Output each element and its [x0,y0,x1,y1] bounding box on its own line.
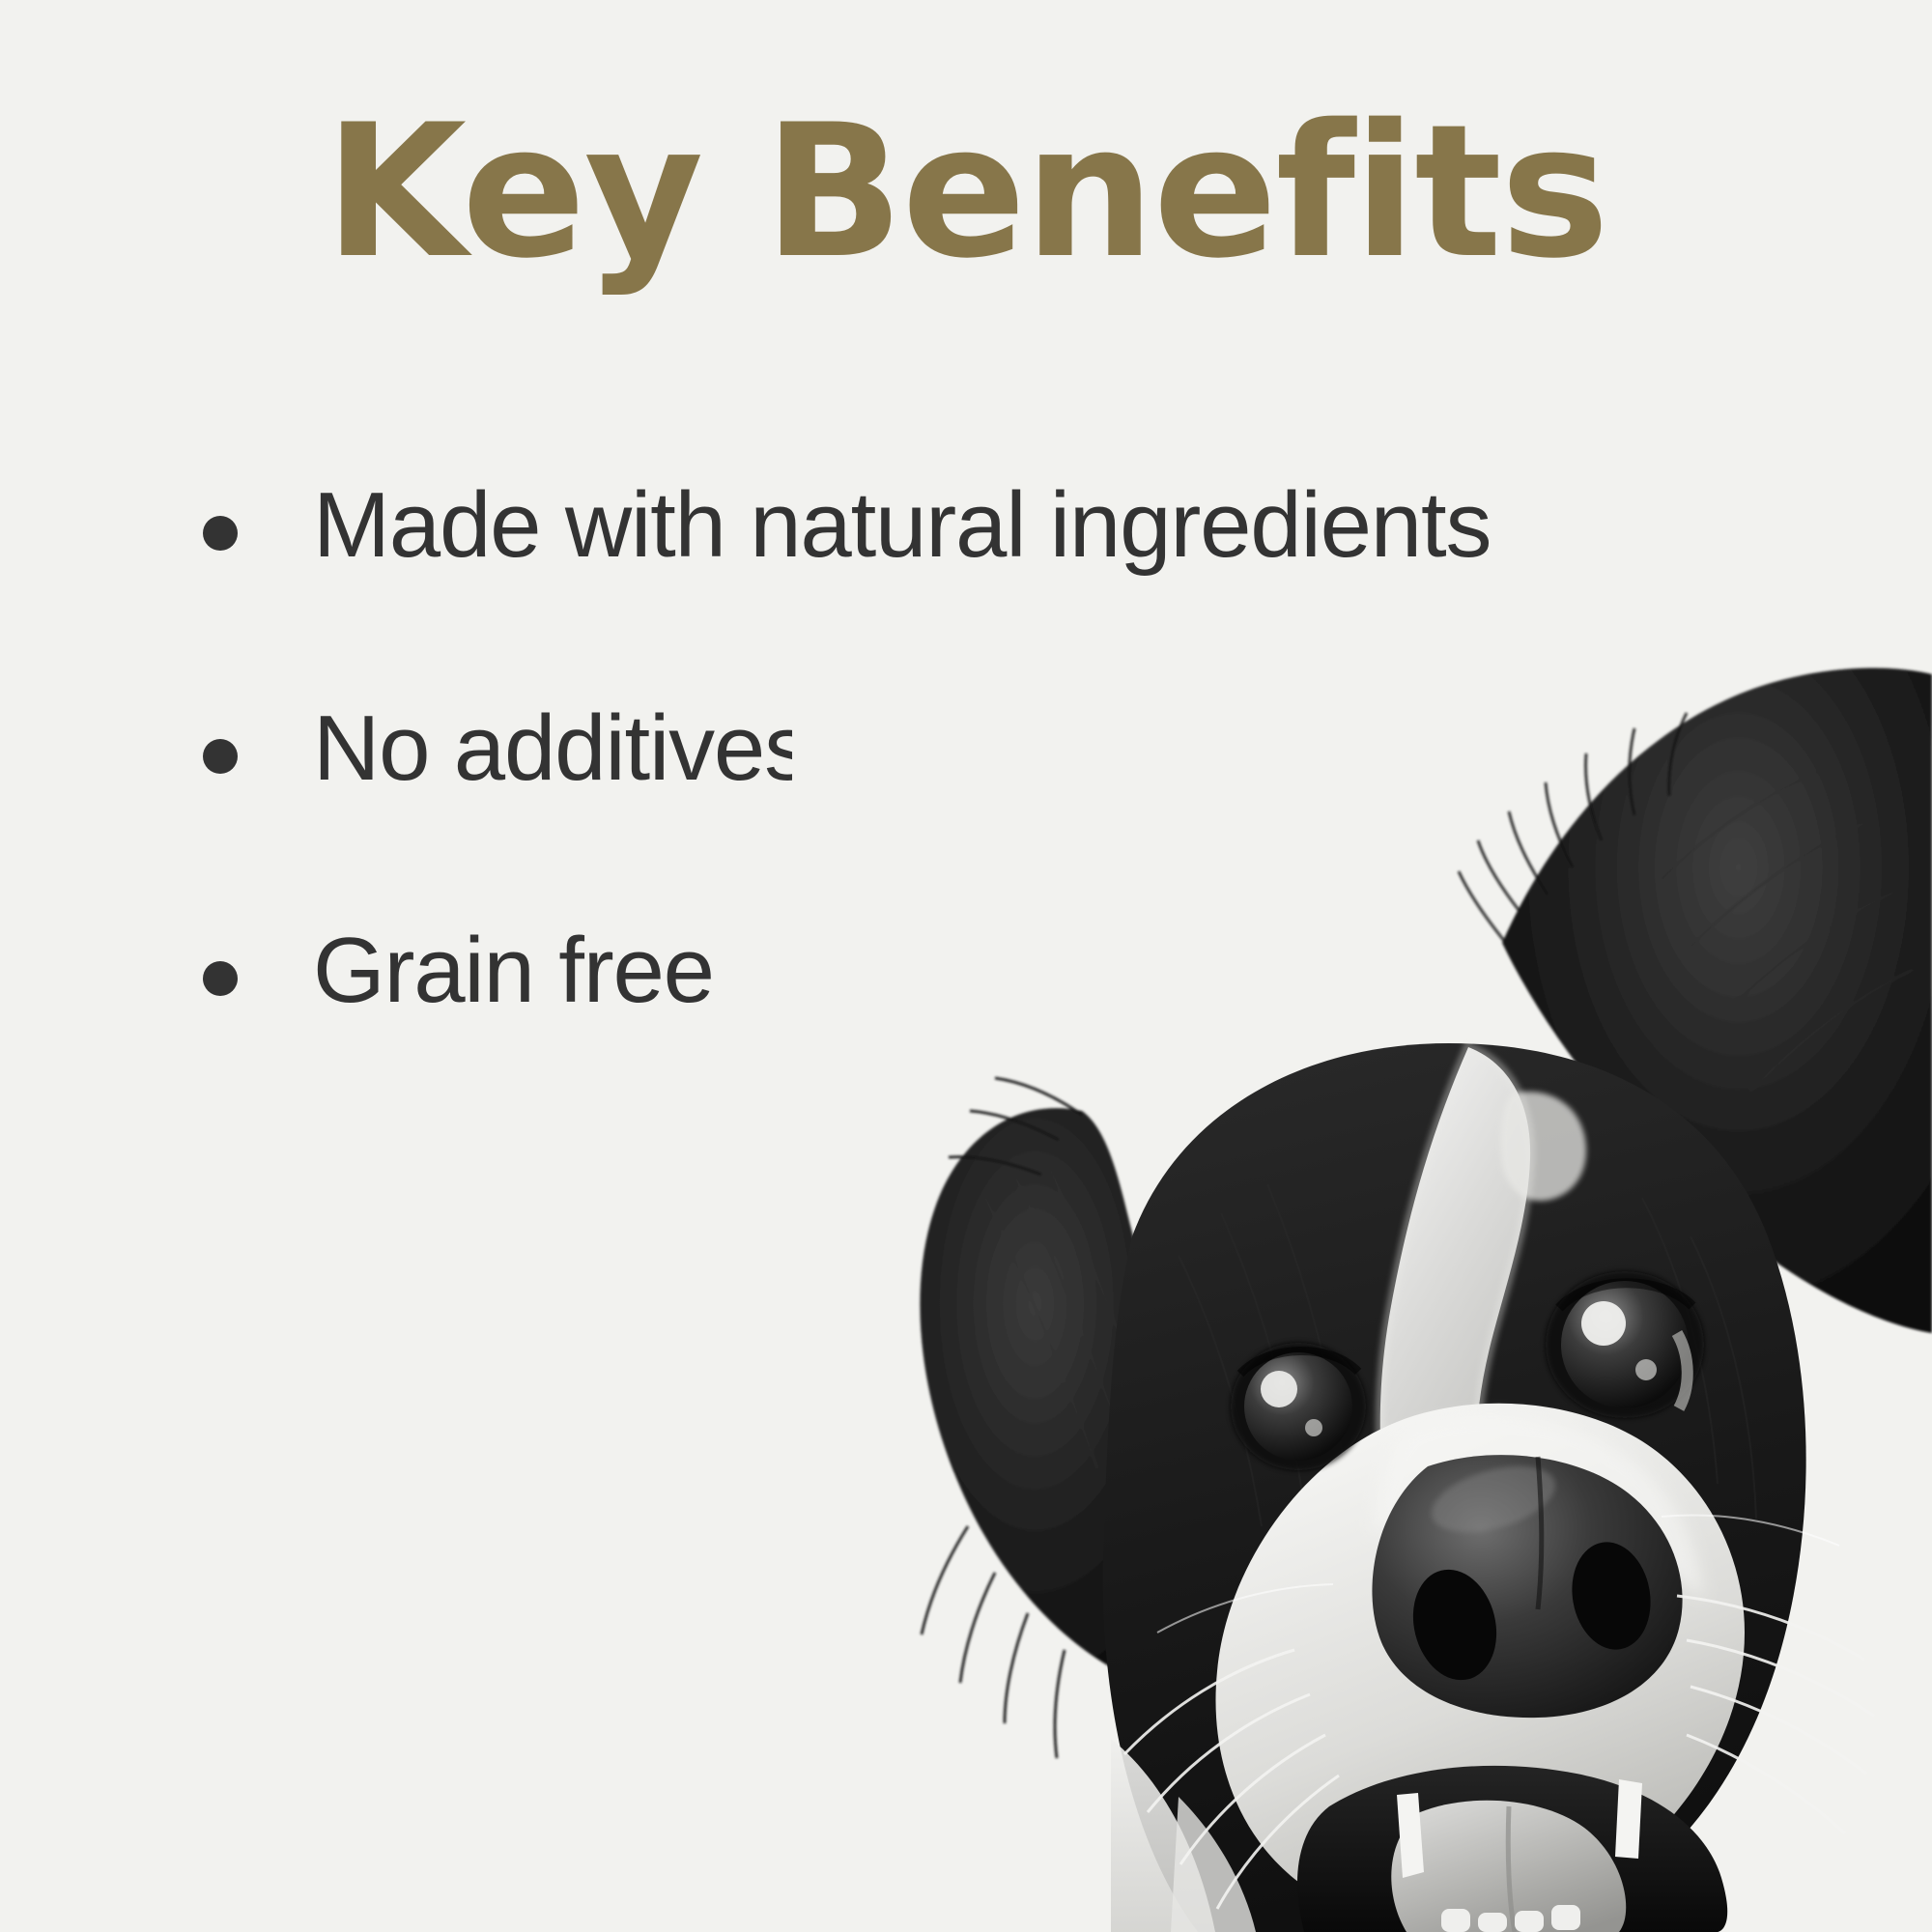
list-item: No additives [203,696,1555,801]
benefit-label: Made with natural ingredients [313,473,1555,578]
bullet-icon [203,739,238,774]
page-title: Key Benefits [0,100,1932,284]
list-item: Grain free [203,919,1555,1023]
benefit-label: No additives [313,696,1555,801]
key-benefits-card: Key Benefits Made with natural ingredien… [0,0,1932,1932]
bullet-icon [203,961,238,996]
list-item: Made with natural ingredients [203,473,1555,578]
bullet-icon [203,516,238,551]
benefits-list: Made with natural ingredients No additiv… [203,473,1555,1142]
benefit-label: Grain free [313,919,1555,1023]
